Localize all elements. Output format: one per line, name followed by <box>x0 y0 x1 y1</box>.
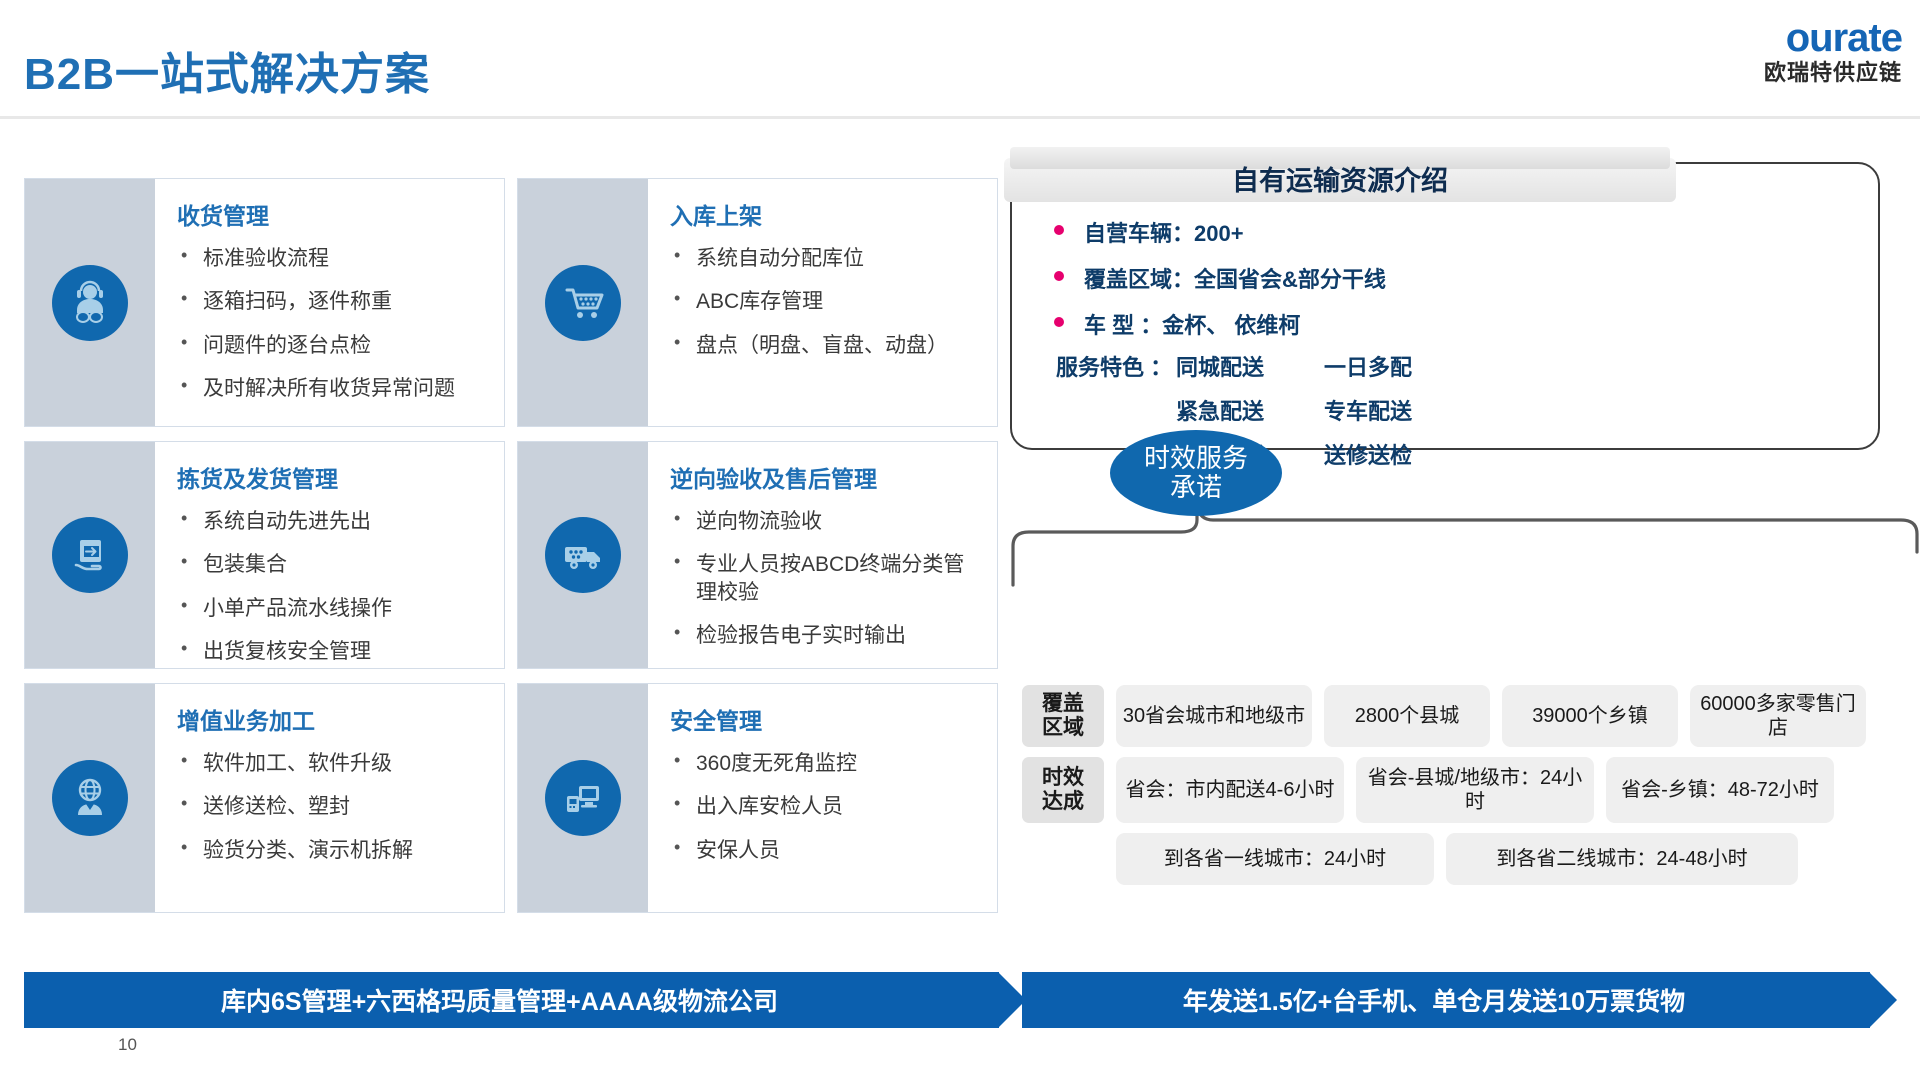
list-item: 及时解决所有收货异常问题 <box>177 375 490 402</box>
card-ruku-shangjia[interactable]: 入库上架 系统自动分配库位 ABC库存管理 盘点（明盘、盲盘、动盘） <box>517 178 998 427</box>
page-header: B2B一站式解决方案 ourate 欧瑞特供应链 <box>0 0 1920 118</box>
transport-box: 自有运输资源介绍 自营车辆：200+ 覆盖区域：全国省会&部分干线 车 型 ：金… <box>1010 150 1890 450</box>
banner-right-text: 年发送1.5亿+台手机、单仓月发送10万票货物 <box>1183 982 1685 1018</box>
card-body: 入库上架 系统自动分配库位 ABC库存管理 盘点（明盘、盲盘、动盘） <box>648 179 997 426</box>
table-cell: 省会-乡镇：48-72小时 <box>1606 757 1834 823</box>
promise-line-2: 承诺 <box>1144 473 1248 502</box>
shopping-cart-icon <box>545 265 621 341</box>
list-item: 送修送检、塑封 <box>177 793 490 820</box>
list-item: 逐箱扫码，逐件称重 <box>177 288 490 315</box>
table-cell: 省会：市内配送4-6小时 <box>1116 757 1344 823</box>
page-title: B2B一站式解决方案 <box>24 38 430 102</box>
card-bullet-list: 系统自动先进先出 包装集合 小单产品流水线操作 出货复核安全管理 <box>177 508 490 665</box>
card-row-3: 增值业务加工 软件加工、软件升级 送修送检、塑封 验货分类、演示机拆解 <box>24 683 999 913</box>
list-item: 专业人员按ABCD终端分类管理校验 <box>670 551 983 606</box>
card-nixiang-yanshou-shouhou[interactable]: 逆向验收及售后管理 逆向物流验收 专业人员按ABCD终端分类管理校验 检验报告电… <box>517 441 998 669</box>
card-title: 拣货及发货管理 <box>177 460 490 494</box>
list-item: ABC库存管理 <box>670 288 983 315</box>
list-item: 出货复核安全管理 <box>177 638 490 665</box>
row-label-sla: 时效 达成 <box>1022 757 1104 823</box>
table-row: 紧急配送 专车配送 <box>1028 394 1858 426</box>
list-item: 系统自动分配库位 <box>670 245 983 272</box>
coverage-sla-table: 覆盖 区域 30省会城市和地级市 2800个县城 39000个乡镇 60000多… <box>1022 685 1920 885</box>
card-anquan-guanli[interactable]: 安全管理 360度无死角监控 出入库安检人员 安保人员 <box>517 683 998 913</box>
list-item: 软件加工、软件升级 <box>177 750 490 777</box>
card-title: 入库上架 <box>670 197 983 231</box>
capability-card-grid: 收货管理 标准验收流程 逐箱扫码，逐件称重 问题件的逐台点检 及时解决所有收货异… <box>24 178 999 927</box>
list-item: 系统自动先进先出 <box>177 508 490 535</box>
promise-badge: 时效服务 承诺 <box>1110 430 1282 516</box>
table-cell: 60000多家零售门店 <box>1690 685 1866 747</box>
card-bullet-list: 逆向物流验收 专业人员按ABCD终端分类管理校验 检验报告电子实时输出 <box>670 508 983 649</box>
row-label-coverage: 覆盖 区域 <box>1022 685 1104 747</box>
card-icon-panel <box>25 442 155 668</box>
table-row: 服务特色 ： 同城配送 一日多配 <box>1028 350 1858 382</box>
list-item: 车 型 ：金杯、 依维柯 <box>1028 308 1858 340</box>
card-title: 逆向验收及售后管理 <box>670 460 983 494</box>
card-icon-panel <box>518 442 648 668</box>
hand-package-out-icon <box>52 517 128 593</box>
card-icon-panel <box>25 179 155 426</box>
globe-person-icon <box>52 760 128 836</box>
card-body: 安全管理 360度无死角监控 出入库安检人员 安保人员 <box>648 684 997 912</box>
card-jianhuo-fahuo-guanli[interactable]: 拣货及发货管理 系统自动先进先出 包装集合 小单产品流水线操作 出货复核安全管理 <box>24 441 505 669</box>
service-cell: 紧急配送 <box>1176 394 1324 426</box>
card-icon-panel <box>518 684 648 912</box>
card-bullet-list: 360度无死角监控 出入库安检人员 安保人员 <box>670 750 983 864</box>
transport-bullet-list: 自营车辆：200+ 覆盖区域：全国省会&部分干线 车 型 ：金杯、 依维柯 <box>1028 216 1858 354</box>
card-body: 收货管理 标准验收流程 逐箱扫码，逐件称重 问题件的逐台点检 及时解决所有收货异… <box>155 179 504 426</box>
service-spacer <box>1028 394 1176 426</box>
card-row-2: 拣货及发货管理 系统自动先进先出 包装集合 小单产品流水线操作 出货复核安全管理 <box>24 441 999 669</box>
banner-left: 库内6S管理+六西格玛质量管理+AAAA级物流公司 <box>24 972 999 1028</box>
table-row-coverage: 覆盖 区域 30省会城市和地级市 2800个县城 39000个乡镇 60000多… <box>1022 685 1920 747</box>
card-body: 增值业务加工 软件加工、软件升级 送修送检、塑封 验货分类、演示机拆解 <box>155 684 504 912</box>
list-item-label: 自营车辆：200+ <box>1084 221 1244 246</box>
service-cell: 同城配送 <box>1176 350 1324 382</box>
service-cell: 专车配送 <box>1324 394 1464 426</box>
banner-left-text: 库内6S管理+六西格玛质量管理+AAAA级物流公司 <box>221 982 778 1018</box>
banner-right: 年发送1.5亿+台手机、单仓月发送10万票货物 <box>1022 972 1870 1028</box>
delivery-truck-icon <box>545 517 621 593</box>
headset-agent-icon <box>52 265 128 341</box>
card-row-1: 收货管理 标准验收流程 逐箱扫码，逐件称重 问题件的逐台点检 及时解决所有收货异… <box>24 178 999 427</box>
card-body: 逆向验收及售后管理 逆向物流验收 专业人员按ABCD终端分类管理校验 检验报告电… <box>648 442 997 668</box>
company-logo: ourate 欧瑞特供应链 <box>1764 18 1902 86</box>
list-item: 逆向物流验收 <box>670 508 983 535</box>
table-cell: 到各省一线城市：24小时 <box>1116 833 1434 885</box>
card-title: 安全管理 <box>670 702 983 736</box>
card-bullet-list: 标准验收流程 逐箱扫码，逐件称重 问题件的逐台点检 及时解决所有收货异常问题 <box>177 245 490 402</box>
card-zengzhi-yewu-jiagong[interactable]: 增值业务加工 软件加工、软件升级 送修送检、塑封 验货分类、演示机拆解 <box>24 683 505 913</box>
table-row-extra: 到各省一线城市：24小时 到各省二线城市：24-48小时 <box>1116 833 1920 885</box>
bullet-dot-icon <box>1054 317 1064 327</box>
card-bullet-list: 软件加工、软件升级 送修送检、塑封 验货分类、演示机拆解 <box>177 750 490 864</box>
list-item-label: 覆盖区域：全国省会&部分干线 <box>1084 267 1386 292</box>
page-number: 10 <box>118 1035 137 1055</box>
bullet-dot-icon <box>1054 225 1064 235</box>
transport-resources-section: 自有运输资源介绍 自营车辆：200+ 覆盖区域：全国省会&部分干线 车 型 ：金… <box>1010 150 1900 450</box>
card-body: 拣货及发货管理 系统自动先进先出 包装集合 小单产品流水线操作 出货复核安全管理 <box>155 442 504 668</box>
list-item: 出入库安检人员 <box>670 793 983 820</box>
list-item-label: 车 型 ：金杯、 依维柯 <box>1084 313 1300 338</box>
card-title: 增值业务加工 <box>177 702 490 736</box>
list-item: 安保人员 <box>670 837 983 864</box>
list-item: 验货分类、演示机拆解 <box>177 837 490 864</box>
card-icon-panel <box>518 179 648 426</box>
card-icon-panel <box>25 684 155 912</box>
service-feature-label: 服务特色 ： <box>1028 350 1176 382</box>
header-divider <box>0 116 1920 119</box>
table-cell: 30省会城市和地级市 <box>1116 685 1312 747</box>
list-item: 问题件的逐台点检 <box>177 332 490 359</box>
list-item: 小单产品流水线操作 <box>177 595 490 622</box>
list-item: 检验报告电子实时输出 <box>670 622 983 649</box>
bullet-dot-icon <box>1054 271 1064 281</box>
monitor-surveillance-icon <box>545 760 621 836</box>
list-item: 自营车辆：200+ <box>1028 216 1858 248</box>
card-shouhuo-guanli[interactable]: 收货管理 标准验收流程 逐箱扫码，逐件称重 问题件的逐台点检 及时解决所有收货异… <box>24 178 505 427</box>
transport-title: 自有运输资源介绍 <box>1010 162 1670 200</box>
table-cell: 39000个乡镇 <box>1502 685 1678 747</box>
logo-wordmark: ourate <box>1764 18 1902 58</box>
list-item: 标准验收流程 <box>177 245 490 272</box>
list-item: 覆盖区域：全国省会&部分干线 <box>1028 262 1858 294</box>
service-cell: 送修送检 <box>1324 438 1464 470</box>
table-cell: 到各省二线城市：24-48小时 <box>1446 833 1798 885</box>
table-cell: 省会-县城/地级市：24小时 <box>1356 757 1594 823</box>
logo-subtitle: 欧瑞特供应链 <box>1764 60 1902 86</box>
list-item: 包装集合 <box>177 551 490 578</box>
card-bullet-list: 系统自动分配库位 ABC库存管理 盘点（明盘、盲盘、动盘） <box>670 245 983 359</box>
list-item: 盘点（明盘、盲盘、动盘） <box>670 332 983 359</box>
list-item: 360度无死角监控 <box>670 750 983 777</box>
service-cell: 一日多配 <box>1324 350 1464 382</box>
table-row-sla: 时效 达成 省会：市内配送4-6小时 省会-县城/地级市：24小时 省会-乡镇：… <box>1022 757 1920 823</box>
card-title: 收货管理 <box>177 197 490 231</box>
promise-line-1: 时效服务 <box>1144 444 1248 473</box>
table-cell: 2800个县城 <box>1324 685 1490 747</box>
